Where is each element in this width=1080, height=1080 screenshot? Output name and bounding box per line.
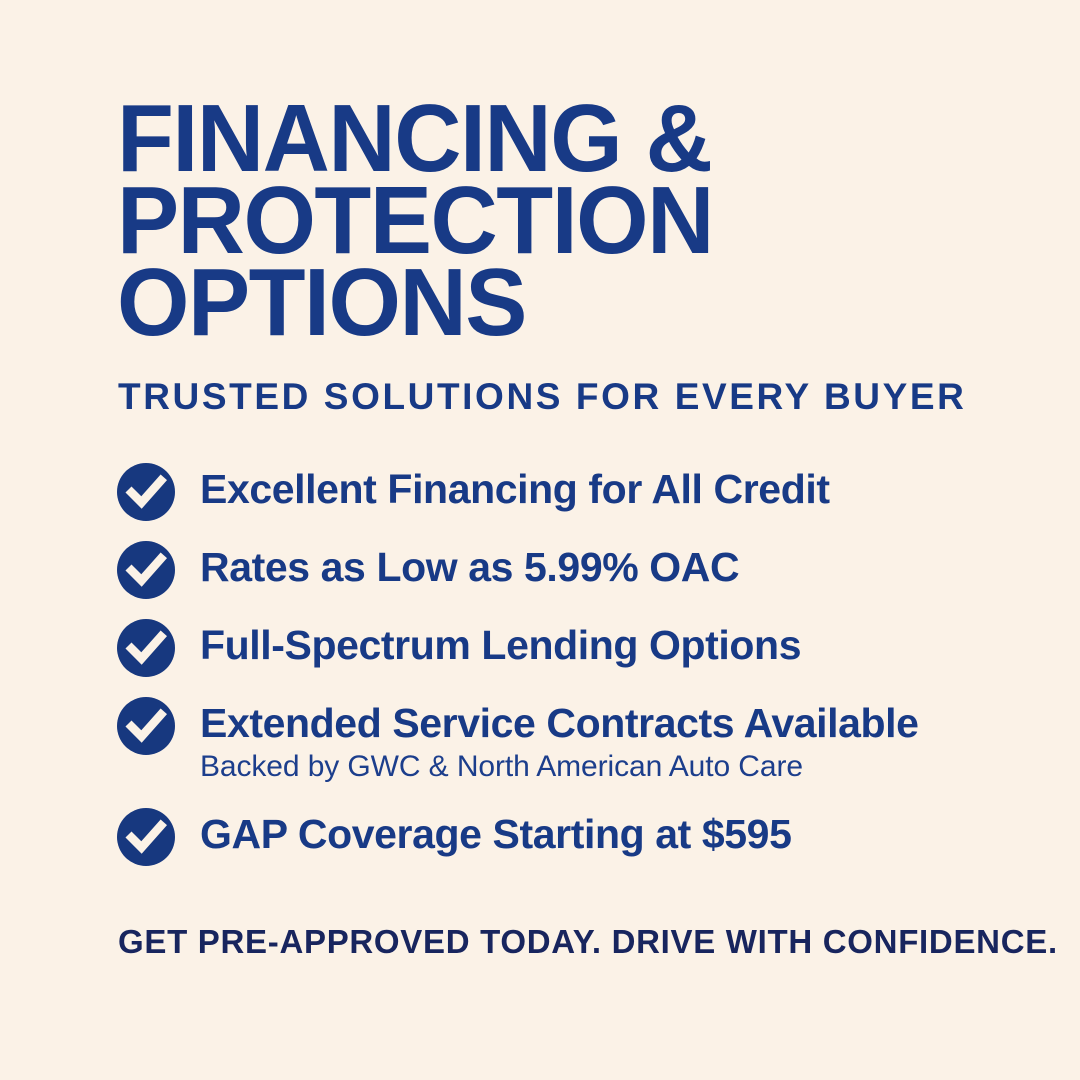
page-subtitle: TRUSTED SOLUTIONS FOR EVERY BUYER (118, 375, 967, 419)
list-item-text: GAP Coverage Starting at $595 (200, 807, 792, 860)
list-item-label: Extended Service Contracts Available (200, 697, 919, 749)
promo-poster: FINANCING & PROTECTION OPTIONS TRUSTED S… (0, 0, 1080, 1080)
check-circle-icon (117, 697, 175, 755)
list-item-text: Excellent Financing for All Credit (200, 462, 830, 515)
benefits-list: Excellent Financing for All Credit Rates… (117, 462, 1037, 885)
list-item: Extended Service Contracts Available Bac… (117, 696, 1037, 785)
check-circle-icon (117, 619, 175, 677)
call-to-action-text: GET PRE-APPROVED TODAY. DRIVE WITH CONFI… (118, 922, 1058, 962)
list-item: Full-Spectrum Lending Options (117, 618, 1037, 677)
list-item-text: Rates as Low as 5.99% OAC (200, 540, 739, 593)
check-circle-icon (117, 808, 175, 866)
list-item: Excellent Financing for All Credit (117, 462, 1037, 521)
check-circle-icon (117, 463, 175, 521)
list-item-label: Full-Spectrum Lending Options (200, 619, 801, 671)
list-item-subtext: Backed by GWC & North American Auto Care (200, 749, 919, 785)
list-item: GAP Coverage Starting at $595 (117, 807, 1037, 866)
headline-line-3: OPTIONS (117, 262, 971, 344)
list-item-label: Rates as Low as 5.99% OAC (200, 541, 739, 593)
list-item-label: GAP Coverage Starting at $595 (200, 808, 792, 860)
page-title: FINANCING & PROTECTION OPTIONS (117, 98, 997, 344)
list-item: Rates as Low as 5.99% OAC (117, 540, 1037, 599)
list-item-text: Full-Spectrum Lending Options (200, 618, 801, 671)
list-item-text: Extended Service Contracts Available Bac… (200, 696, 919, 785)
list-item-label: Excellent Financing for All Credit (200, 463, 830, 515)
check-circle-icon (117, 541, 175, 599)
